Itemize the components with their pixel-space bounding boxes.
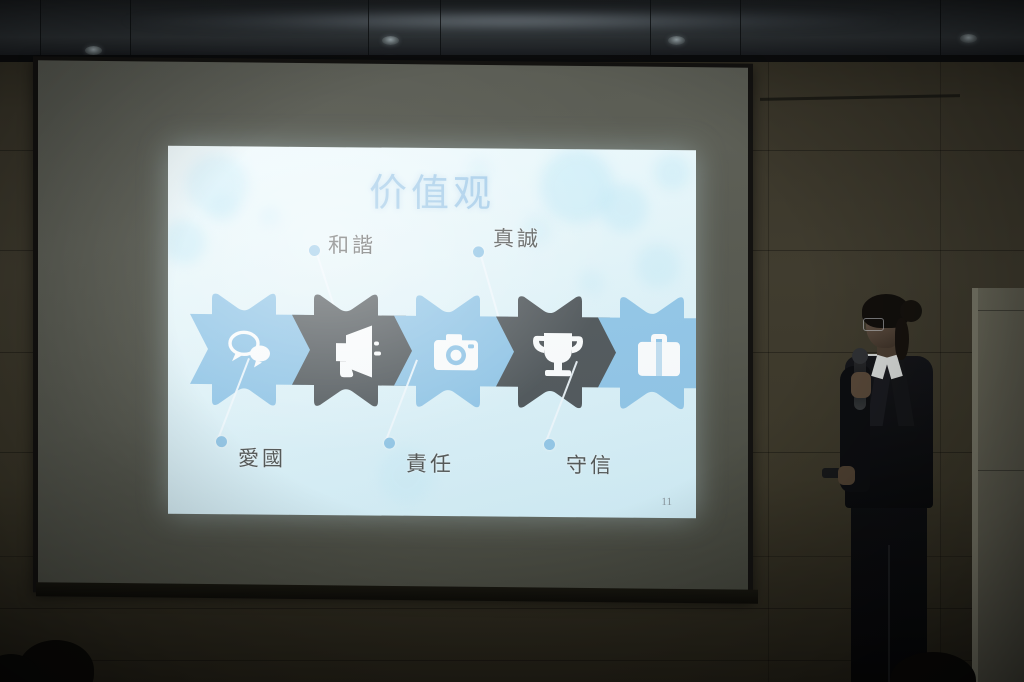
slide-label-harmony: 和諧 [328,229,376,259]
slide-label-trustworthiness: 守信 [566,449,614,479]
wall-seam [768,60,769,682]
chevron-step-5[interactable] [594,293,696,412]
slide-label-sincerity: 真誠 [493,223,541,253]
right-cabinet-edge [972,288,978,682]
ceiling-light-glow [120,10,900,32]
microphone-head-icon [852,348,868,364]
ceiling-downlight-icon [668,36,685,45]
presenter-hair-strand [895,318,909,360]
presenter-hand [838,466,855,485]
ceiling-downlight-icon [960,34,977,43]
connector-dot [384,438,395,449]
ceiling-downlight-icon [85,46,102,55]
presenter-hand [851,372,871,398]
connector-dot [544,439,555,450]
ceiling [0,0,1024,62]
connector-dot [309,245,320,256]
presentation-slide[interactable]: 价值观 和諧 真誠 [168,146,696,519]
connector-dot [216,436,227,447]
slide-label-responsibility: 責任 [406,448,454,478]
wall-seam [940,60,941,682]
slide-title: 价值观 [168,160,696,220]
slide-page-number: 11 [661,496,672,508]
presenter-leg-seam [888,545,890,682]
right-cabinet [972,288,1024,682]
slide-label-patriotism: 愛國 [238,442,286,472]
glasses-icon [863,318,884,331]
lecture-hall-scene: 价值观 和諧 真誠 [0,0,1024,682]
connector-dot [473,246,484,257]
ceiling-downlight-icon [382,36,399,45]
